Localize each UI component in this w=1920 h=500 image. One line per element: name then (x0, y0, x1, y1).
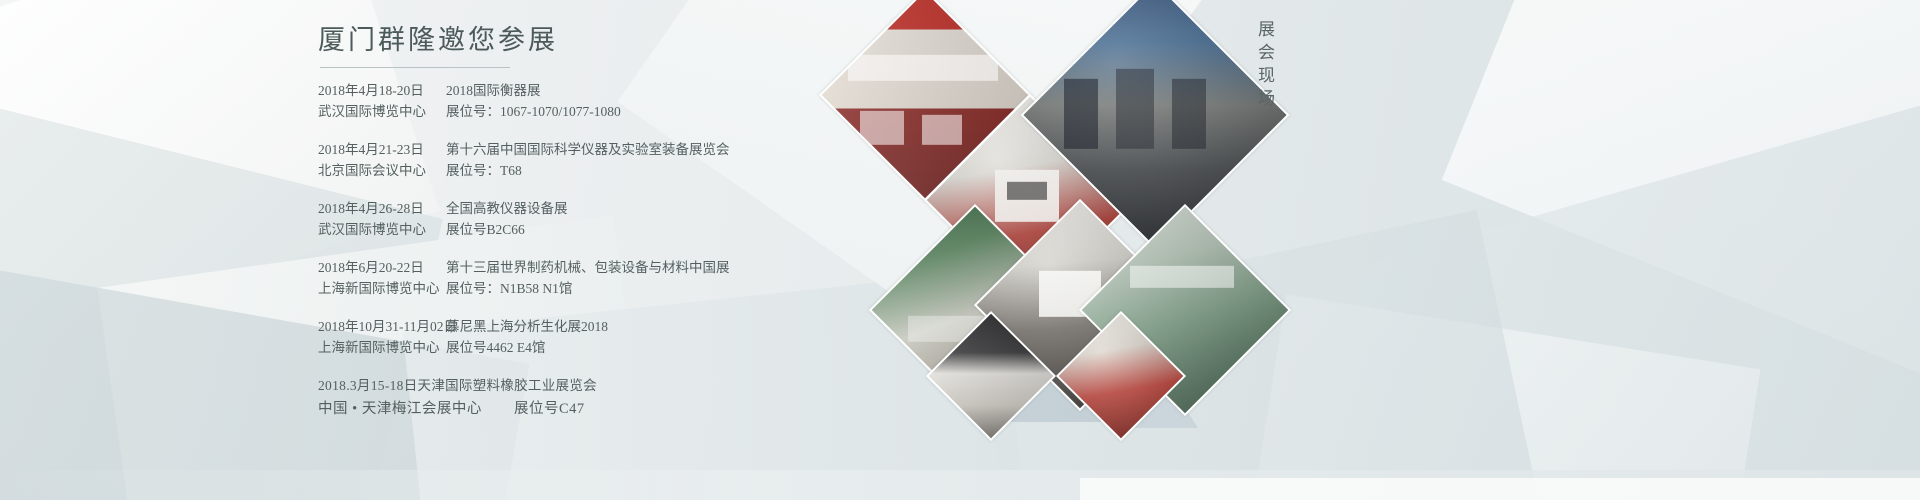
background-shard (1334, 103, 1920, 500)
event-name: 慕尼黑上海分析生化展2018 (446, 316, 608, 337)
exhibition-banner: 厦门群隆邀您参展 2018年4月18-20日 2018国际衡器展 武汉国际博览中… (0, 0, 1920, 500)
photo-detail (1130, 266, 1234, 288)
background-baseline-bar (1080, 478, 1920, 500)
photo-detail (860, 111, 904, 145)
photo-detail (848, 55, 998, 81)
event-booth: 展位号C47 (514, 401, 585, 417)
photo-detail (1064, 79, 1098, 149)
event-venue: 中国 • 天津梅江会展中心 (318, 397, 514, 421)
event-booth: 展位号：T68 (446, 160, 522, 181)
photo-collage (840, 0, 1240, 420)
event-booth: 展位号：N1B58 N1馆 (446, 278, 572, 299)
background-shard (1442, 0, 1920, 390)
event-date: 2018年6月20-22日 (318, 257, 446, 278)
event-name: 全国高教仪器设备展 (446, 198, 568, 219)
event-booth: 展位号4462 E4馆 (446, 337, 545, 358)
event-venue: 武汉国际博览中心 (318, 219, 446, 240)
vertical-section-label: 展会现场 (1252, 20, 1277, 112)
event-booth: 展位号：1067-1070/1077-1080 (446, 101, 621, 122)
photo-detail (922, 115, 962, 145)
title-rule (320, 67, 510, 68)
event-venue: 上海新国际博览中心 (318, 278, 446, 299)
event-name: 第十三届世界制药机械、包装设备与材料中国展 (446, 257, 730, 278)
event-name: 2018国际衡器展 (446, 80, 541, 101)
event-date: 2018年10月31-11月02日 (318, 316, 446, 337)
event-venue: 武汉国际博览中心 (318, 101, 446, 122)
event-venue: 上海新国际博览中心 (318, 337, 446, 358)
photo-detail (1116, 69, 1154, 149)
event-venue: 北京国际会议中心 (318, 160, 446, 181)
event-name: 第十六届中国国际科学仪器及实验室装备展览会 (446, 139, 730, 160)
photo-detail (1007, 182, 1047, 200)
photo-detail (1172, 79, 1206, 149)
event-date: 2018年4月21-23日 (318, 139, 446, 160)
event-booth: 展位号B2C66 (446, 219, 525, 240)
event-date: 2018年4月18-20日 (318, 80, 446, 101)
event-date: 2018年4月26-28日 (318, 198, 446, 219)
